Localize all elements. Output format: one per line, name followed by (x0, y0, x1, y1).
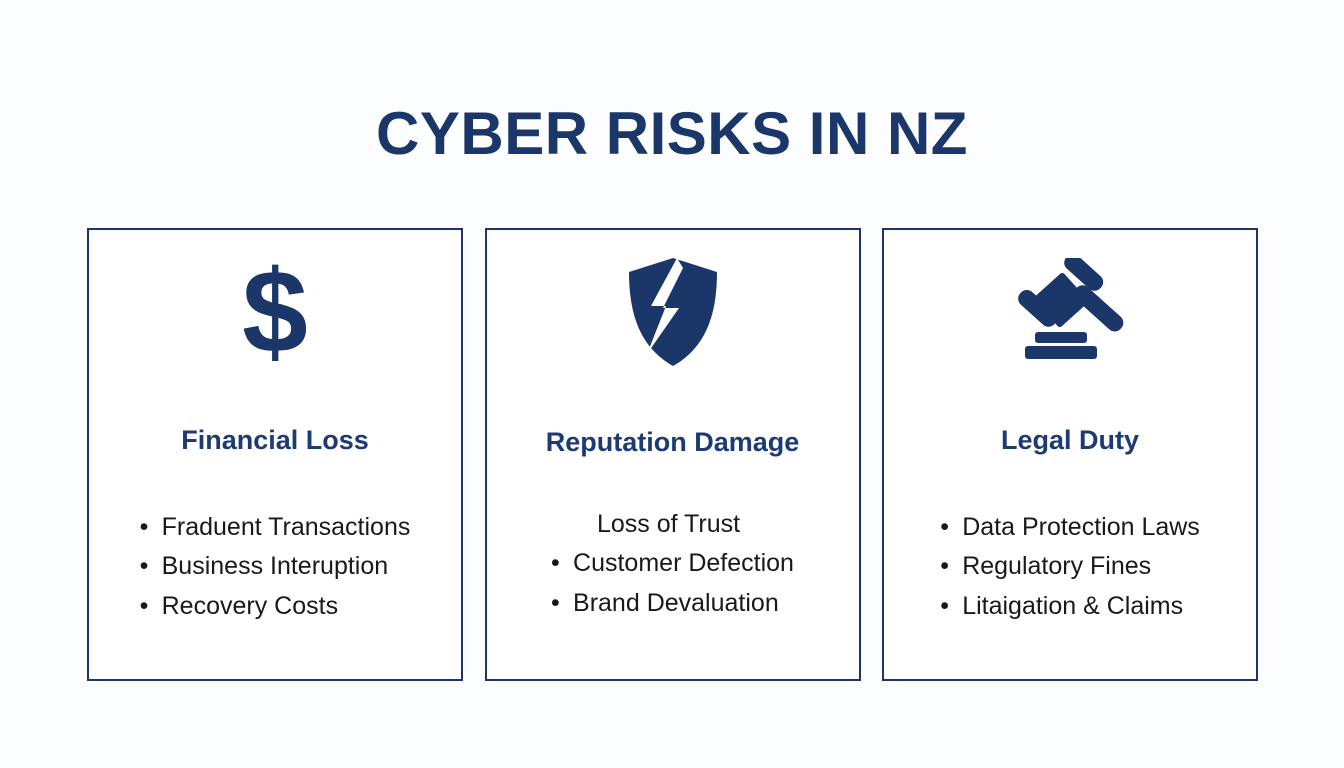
list-item: Business Interuption (140, 547, 411, 587)
list-item: Loss of Trust (555, 505, 782, 545)
list-item: Data Protection Laws (940, 508, 1200, 548)
risk-list-reputation-damage: Loss of Trust Customer Defection Brand D… (551, 505, 794, 624)
card-heading-legal-duty: Legal Duty (1001, 426, 1139, 456)
risk-card-financial-loss: $ Financial Loss Fraduent Transactions B… (87, 228, 463, 681)
risk-list-financial-loss: Fraduent Transactions Business Interupti… (140, 508, 411, 627)
list-item: Litaigation & Claims (940, 587, 1200, 627)
risk-card-legal-duty: Legal Duty Data Protection Laws Regulato… (882, 228, 1258, 681)
list-item: Fraduent Transactions (140, 508, 411, 548)
page-title: CYBER RISKS IN NZ (0, 102, 1344, 165)
risk-card-reputation-damage: Reputation Damage Loss of Trust Customer… (485, 228, 861, 681)
list-item: Recovery Costs (140, 587, 411, 627)
gavel-icon (1009, 244, 1131, 379)
list-item: Regulatory Fines (940, 547, 1200, 587)
dollar-sign-glyph: $ (242, 253, 308, 371)
risk-cards-row: $ Financial Loss Fraduent Transactions B… (87, 228, 1258, 681)
card-heading-reputation-damage: Reputation Damage (546, 428, 800, 458)
risk-list-legal-duty: Data Protection Laws Regulatory Fines Li… (940, 508, 1200, 627)
list-item: Brand Devaluation (551, 584, 794, 624)
card-heading-financial-loss: Financial Loss (181, 426, 369, 456)
dollar-sign-icon: $ (242, 244, 308, 379)
cracked-shield-icon (625, 244, 721, 379)
list-item: Customer Defection (551, 544, 794, 584)
